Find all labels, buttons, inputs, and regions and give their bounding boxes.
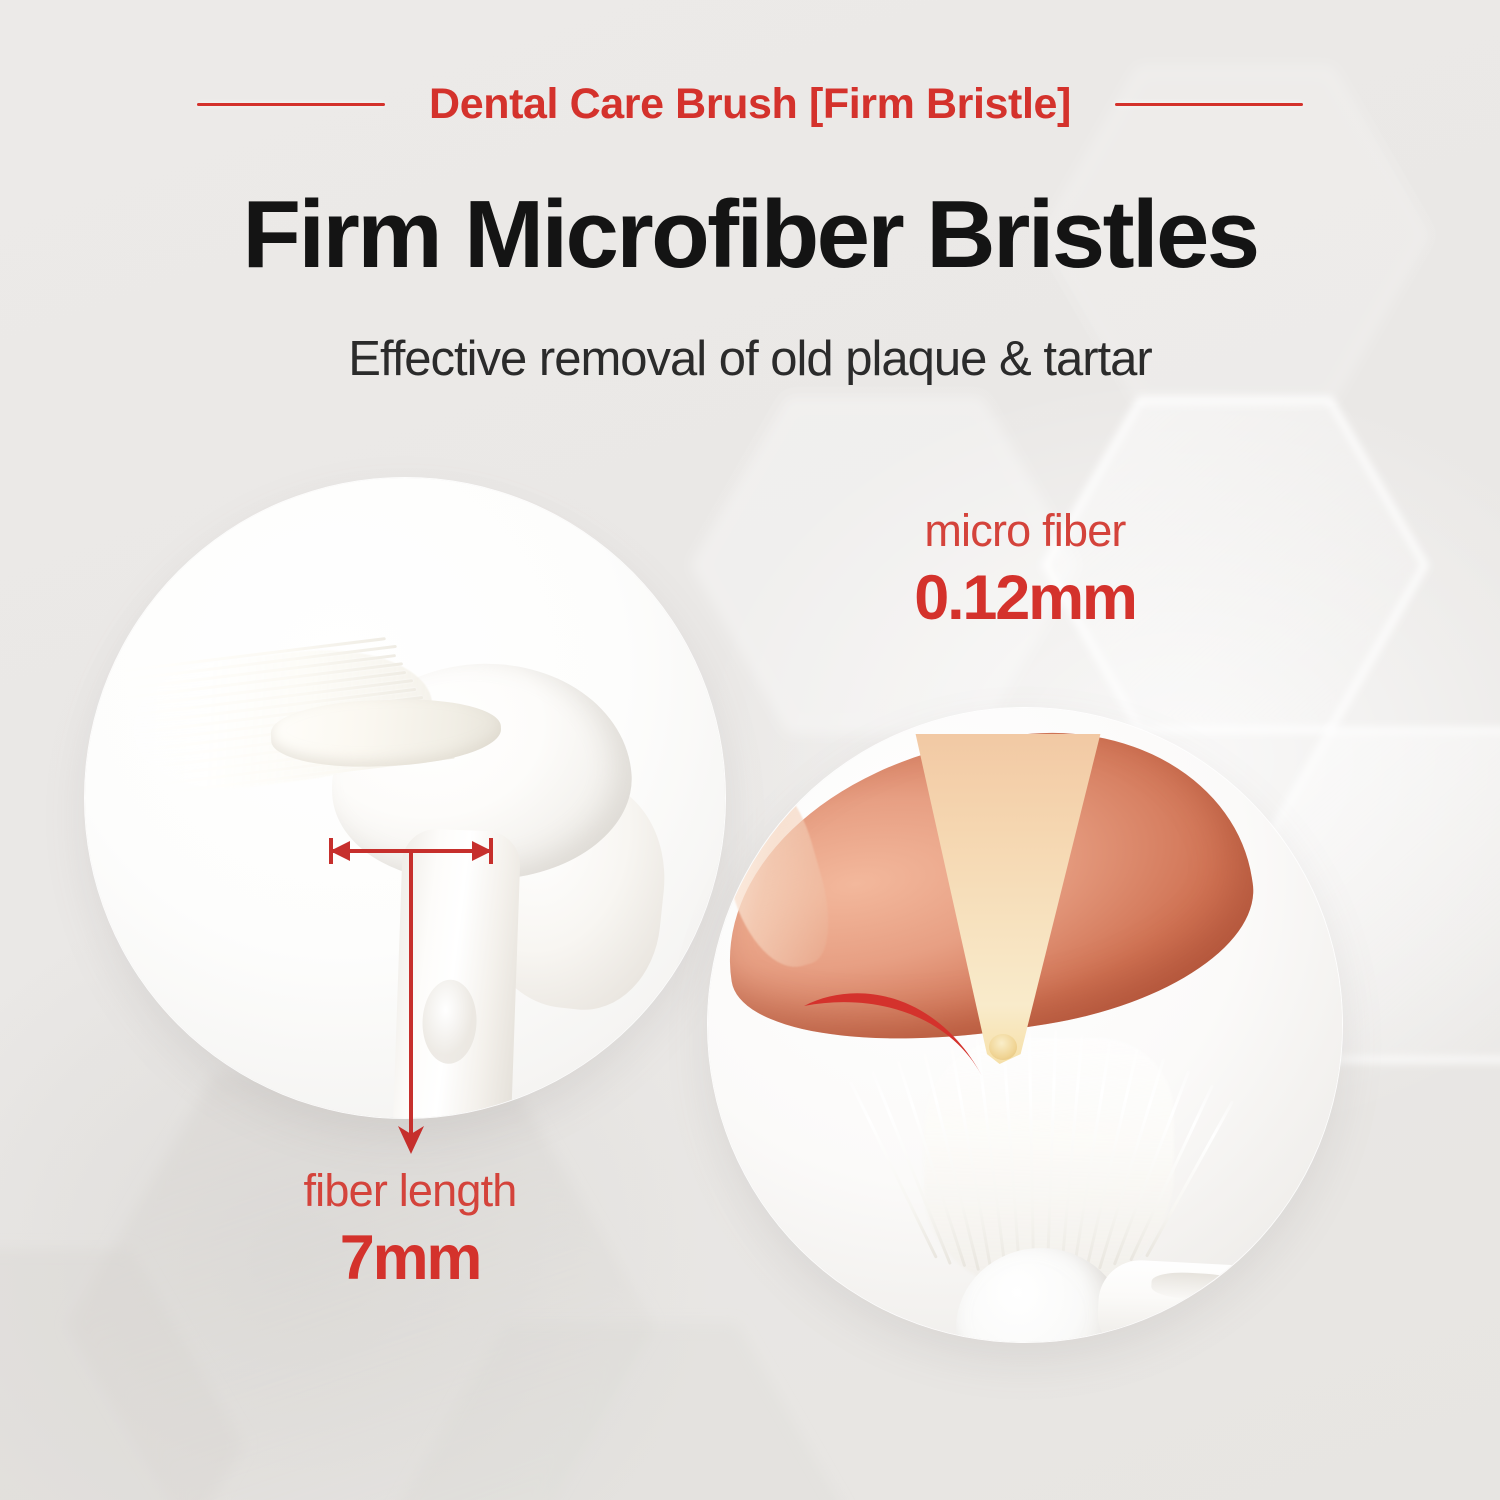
photo-toothbrush-head-closeup <box>85 478 725 1118</box>
fiber-length-value: 7mm <box>150 1222 670 1294</box>
callout-fiber-length: fiber length 7mm <box>150 1166 670 1294</box>
red-swoosh-arc-icon <box>800 972 1030 1092</box>
eyebrow-kicker-text: Dental Care Brush [Firm Bristle] <box>429 83 1071 126</box>
micro-fiber-caption: micro fiber <box>765 506 1285 556</box>
eyebrow-rule-right <box>1115 103 1303 106</box>
photo-fingertip-pressing-bristles <box>708 708 1342 1342</box>
callout-micro-fiber: micro fiber 0.12mm <box>765 506 1285 634</box>
fiber-length-caption: fiber length <box>150 1166 670 1216</box>
eyebrow-rule-left <box>197 103 385 106</box>
brush-handle-shaft <box>1096 1258 1342 1342</box>
brush-handle-neck <box>393 828 521 1118</box>
page-subtitle: Effective removal of old plaque & tartar <box>0 333 1500 387</box>
page-title: Firm Microfiber Bristles <box>0 184 1500 286</box>
micro-fiber-value: 0.12mm <box>765 562 1285 634</box>
infographic-canvas: Dental Care Brush [Firm Bristle] Firm Mi… <box>0 0 1500 1500</box>
eyebrow-banner: Dental Care Brush [Firm Bristle] <box>0 73 1500 135</box>
